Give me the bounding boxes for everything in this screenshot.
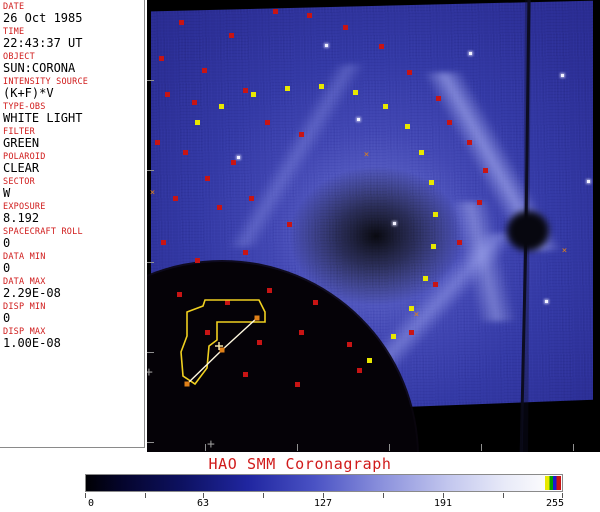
metadata-value: 0 <box>3 262 144 275</box>
axis-center-marker-left: + <box>147 368 153 378</box>
colorbar-tick <box>263 493 264 498</box>
coronagraph-image-panel[interactable]: ×××× ++ <box>147 0 600 452</box>
metadata-value: 0 <box>3 312 144 325</box>
colorbar-overlay-colors <box>545 476 561 490</box>
chart-title: HAO SMM Coronagraph <box>0 455 600 473</box>
axis-tick-bottom <box>573 444 574 451</box>
colorbar-tick <box>383 493 384 498</box>
metadata-value: 0 <box>3 237 144 250</box>
metadata-value: WHITE LIGHT <box>3 112 144 125</box>
metadata-sidebar: DATE26 Oct 1985TIME22:43:37 UTOBJECTSUN:… <box>0 0 145 448</box>
corona-image: ×××× ++ <box>147 0 600 452</box>
axis-tick-left <box>147 80 154 81</box>
metadata-row: FILTERGREEN <box>3 127 144 150</box>
colorbar-tick-label: 127 <box>314 498 332 509</box>
metadata-row: DISP MAX1.00E-08 <box>3 327 144 350</box>
coronagraph-viewer: DATE26 Oct 1985TIME22:43:37 UTOBJECTSUN:… <box>0 0 600 512</box>
metadata-value: 26 Oct 1985 <box>3 12 144 25</box>
axis-tick-bottom <box>205 444 206 451</box>
metadata-row: OBJECTSUN:CORONA <box>3 52 144 75</box>
polygon-vertex <box>220 348 225 353</box>
colorbar-tick-label: 255 <box>546 498 564 509</box>
colorbar-tick <box>145 493 146 498</box>
metadata-value: W <box>3 187 144 200</box>
metadata-value: GREEN <box>3 137 144 150</box>
metadata-value: CLEAR <box>3 162 144 175</box>
colorbar-tick <box>503 493 504 498</box>
metadata-row: TIME22:43:37 UT <box>3 27 144 50</box>
metadata-value: 22:43:37 UT <box>3 37 144 50</box>
metadata-row: DATA MAX2.29E-08 <box>3 277 144 300</box>
metadata-value: SUN:CORONA <box>3 62 144 75</box>
metadata-value: (K+F)*V <box>3 87 144 100</box>
metadata-row: TYPE-OBSWHITE LIGHT <box>3 102 144 125</box>
axis-tick-left <box>147 262 154 263</box>
colorbar[interactable] <box>85 474 563 492</box>
polygon-vertex <box>185 382 190 387</box>
metadata-key: SECTOR <box>3 177 144 187</box>
axis-tick-left <box>147 352 154 353</box>
metadata-row: DATA MIN0 <box>3 252 144 275</box>
axis-tick-bottom <box>481 444 482 451</box>
axis-tick-bottom <box>297 444 298 451</box>
metadata-key: DATA MIN <box>3 252 144 262</box>
metadata-row: SPACECRAFT ROLL0 <box>3 227 144 250</box>
axis-tick-left <box>147 442 154 443</box>
metadata-value: 1.00E-08 <box>3 337 144 350</box>
axis-tick-left <box>147 170 154 171</box>
metadata-key: SPACECRAFT ROLL <box>3 227 144 237</box>
metadata-row: SECTORW <box>3 177 144 200</box>
colorbar-tick <box>85 493 86 498</box>
polygon-vertex <box>255 316 260 321</box>
metadata-row: POLAROIDCLEAR <box>3 152 144 175</box>
metadata-value: 2.29E-08 <box>3 287 144 300</box>
axis-center-marker-bottom: + <box>207 440 215 450</box>
colorbar-tick-label: 191 <box>434 498 452 509</box>
metadata-row: EXPOSURE8.192 <box>3 202 144 225</box>
metadata-row: DATE26 Oct 1985 <box>3 2 144 25</box>
feature-polygon-annotation <box>147 0 600 452</box>
metadata-value: 8.192 <box>3 212 144 225</box>
metadata-row: INTENSITY SOURCE(K+F)*V <box>3 77 144 100</box>
colorbar-tick-label: 0 <box>88 498 94 509</box>
colorbar-tick-label: 63 <box>197 498 209 509</box>
axis-tick-bottom <box>389 444 390 451</box>
colorbar-gradient <box>85 474 563 492</box>
metadata-key: DISP MIN <box>3 302 144 312</box>
metadata-row: DISP MIN0 <box>3 302 144 325</box>
